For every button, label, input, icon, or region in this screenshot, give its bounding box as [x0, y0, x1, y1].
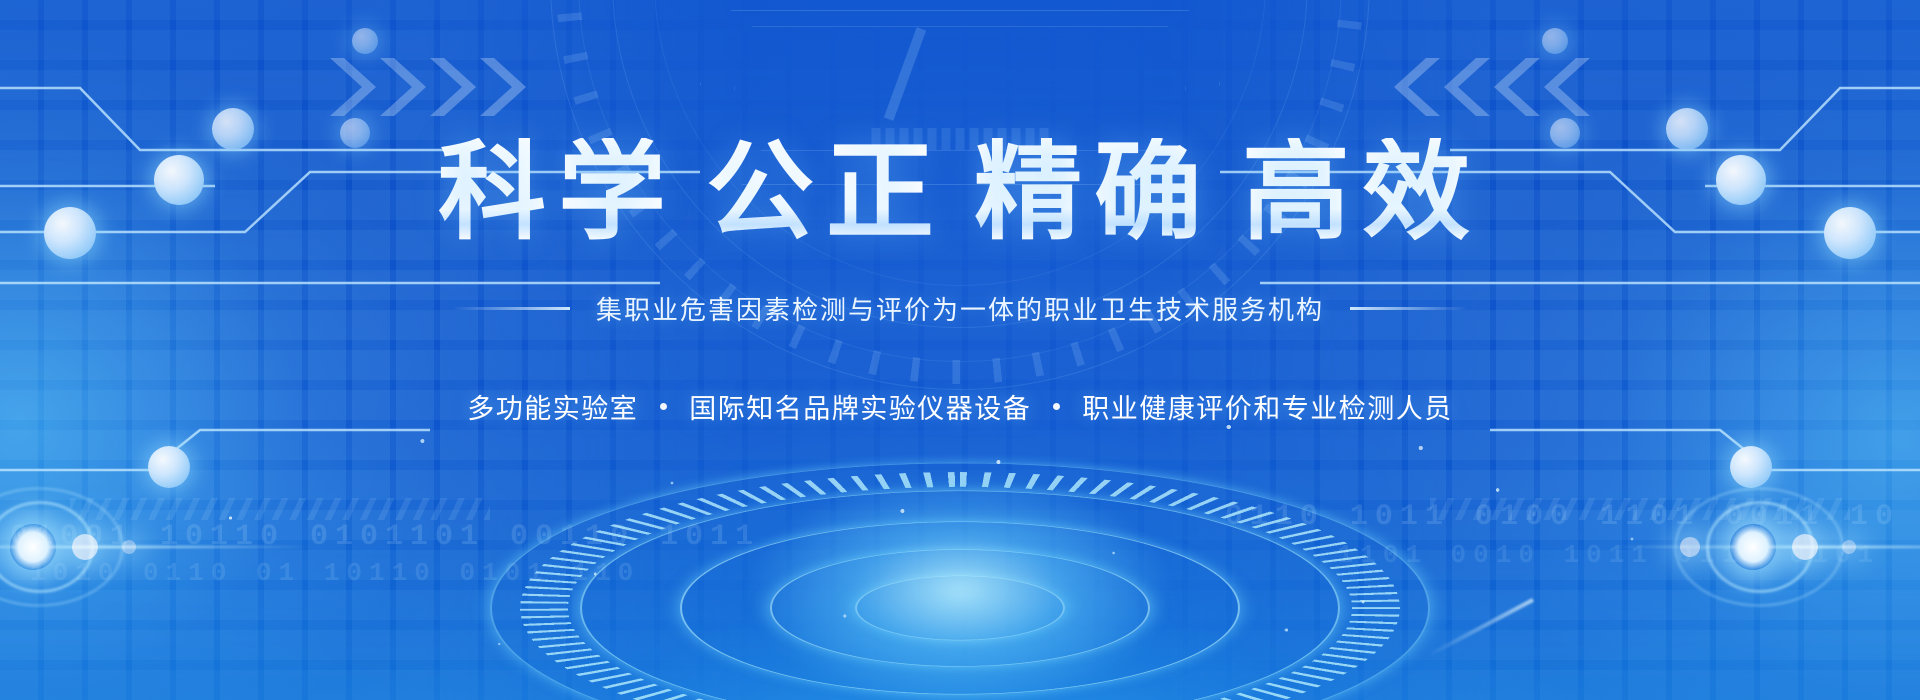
tagline-separator-dot — [1053, 403, 1060, 410]
headline-word-2: 公正 — [706, 131, 946, 252]
tagline-item-2: 国际知名品牌实验仪器设备 — [689, 387, 1031, 426]
headline-word-3: 精确 — [974, 131, 1214, 252]
subtitle-rule-right — [1350, 307, 1468, 310]
banner-content: 科学公正精确高效 集职业危害因素检测与评价为一体的职业卫生技术服务机构 多功能实… — [0, 0, 1920, 700]
subtitle-rule-left — [452, 307, 570, 310]
headline-word-1: 科学 — [438, 131, 678, 252]
subtitle-row: 集职业危害因素检测与评价为一体的职业卫生技术服务机构 — [0, 290, 1920, 327]
tagline-item-1: 多功能实验室 — [467, 387, 638, 426]
tagline-item-3: 职业健康评价和专业检测人员 — [1082, 387, 1453, 426]
headline-word-4: 高效 — [1242, 131, 1482, 252]
tagline-separator-dot — [660, 403, 667, 410]
banner-taglines: 多功能实验室 国际知名品牌实验仪器设备 职业健康评价和专业检测人员 — [467, 387, 1453, 426]
banner-subtitle: 集职业危害因素检测与评价为一体的职业卫生技术服务机构 — [596, 290, 1324, 327]
banner-headline: 科学公正精确高效 — [438, 138, 1482, 246]
hero-banner: 01001 10110 0101101 00110 1011 1010 0110… — [0, 0, 1920, 700]
